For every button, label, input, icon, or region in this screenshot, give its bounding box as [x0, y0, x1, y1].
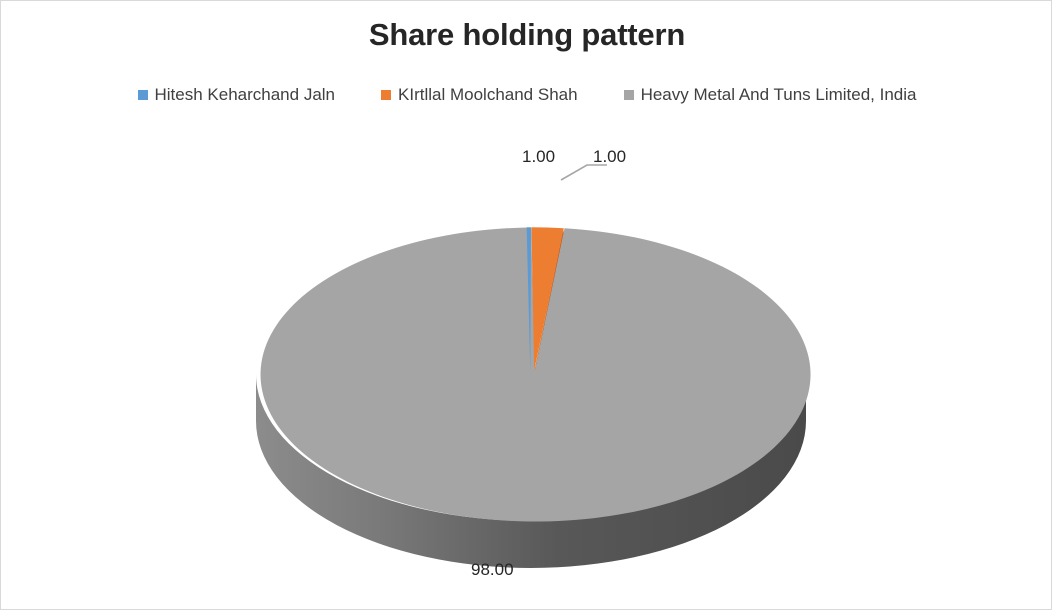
chart-container: Share holding pattern Hitesh Keharchand … — [0, 0, 1052, 610]
data-label-orange: 1.00 — [593, 147, 626, 167]
data-label-leader-line — [561, 165, 607, 180]
data-label-blue: 1.00 — [522, 147, 555, 167]
data-label-gray: 98.00 — [471, 560, 514, 580]
pie-chart-graphic — [1, 1, 1052, 610]
